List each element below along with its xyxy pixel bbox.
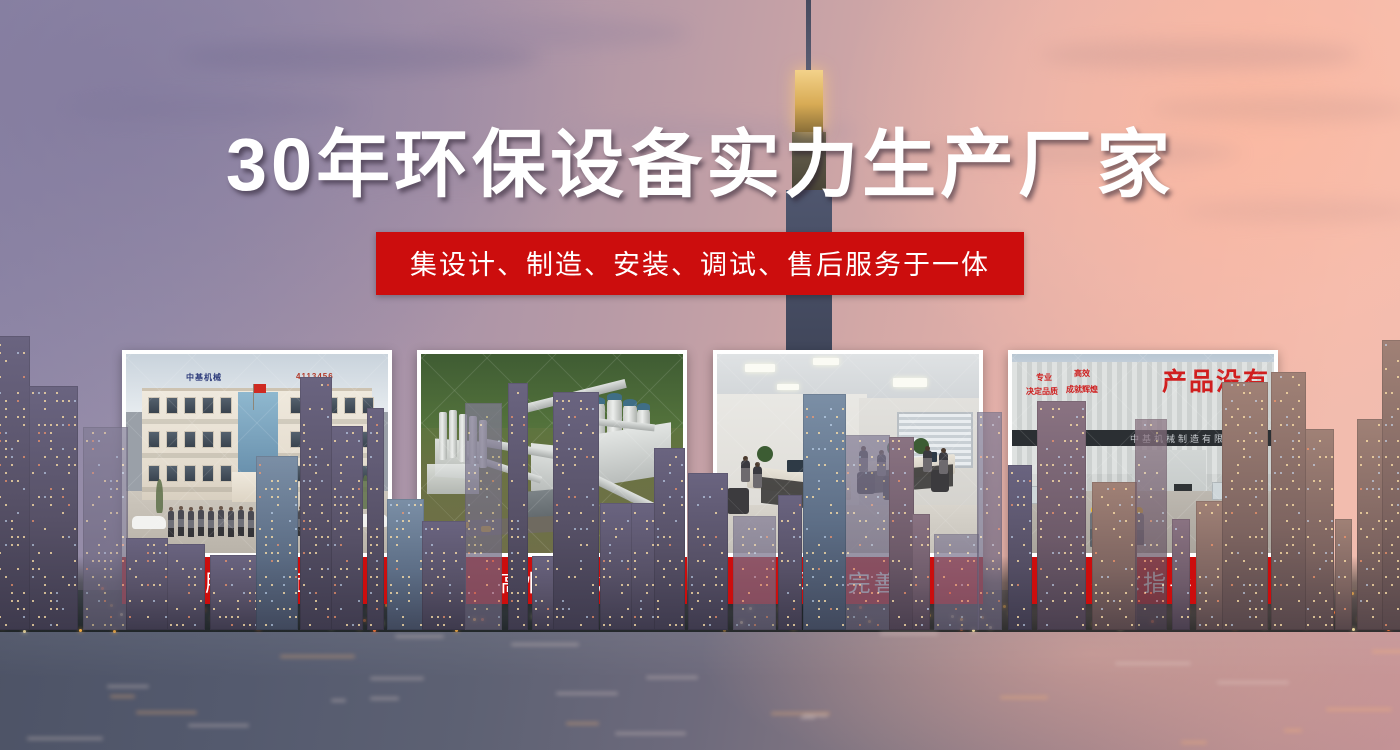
building-window: [86, 520, 88, 522]
building-window: [17, 608, 19, 610]
building-window: [170, 624, 172, 626]
building-window: [1095, 552, 1097, 554]
ceiling-light: [893, 378, 927, 387]
building-window: [437, 576, 439, 578]
building-window: [309, 448, 311, 450]
building-window: [568, 448, 570, 450]
building-window: [468, 592, 470, 594]
building-window: [547, 624, 549, 626]
skyline-building: [1222, 382, 1268, 630]
building-window: [376, 544, 378, 546]
building-window: [1237, 600, 1239, 602]
building-window: [657, 600, 659, 602]
building-window: [1331, 560, 1333, 562]
building-window: [574, 416, 576, 418]
building-window: [104, 568, 106, 570]
skyline-building: [256, 456, 298, 630]
building-window: [1391, 416, 1393, 418]
skyline-building: [600, 503, 632, 630]
photo-wall-slogan: 高效: [1074, 368, 1090, 379]
building-window: [1385, 344, 1387, 346]
building-window: [358, 600, 360, 602]
building-window: [1225, 520, 1227, 522]
building-window: [86, 568, 88, 570]
building-window: [32, 472, 34, 474]
building-window: [556, 520, 558, 522]
building-window: [904, 512, 906, 514]
building-window: [303, 424, 305, 426]
building-window: [681, 584, 683, 586]
building-window: [806, 560, 808, 562]
building-window: [1298, 528, 1300, 530]
building-window: [315, 528, 317, 530]
building-window: [1107, 488, 1109, 490]
building-window: [92, 504, 94, 506]
building-window: [396, 608, 398, 610]
building-window: [303, 512, 305, 514]
building-window: [1360, 464, 1362, 466]
building-window: [56, 600, 58, 602]
building-window: [1286, 424, 1288, 426]
building-window: [1156, 520, 1158, 522]
building-window: [1319, 456, 1321, 458]
building-window: [646, 528, 648, 530]
building-window: [443, 616, 445, 618]
building-window: [1040, 568, 1042, 570]
building-window: [836, 472, 838, 474]
building-window: [883, 440, 885, 442]
building-window: [135, 576, 137, 578]
building-window: [38, 496, 40, 498]
building-window: [949, 624, 951, 626]
building-window: [38, 392, 40, 394]
building-window: [523, 440, 525, 442]
building-window: [474, 488, 476, 490]
building-window: [1017, 496, 1019, 498]
building-window: [1046, 576, 1048, 578]
building-window: [697, 592, 699, 594]
building-window: [17, 512, 19, 514]
building-window: [277, 504, 279, 506]
building-window: [11, 448, 13, 450]
building-window: [681, 624, 683, 626]
building-window: [104, 480, 106, 482]
building-window: [468, 544, 470, 546]
parked-car: [132, 516, 166, 529]
building-window: [1225, 424, 1227, 426]
building-window: [1231, 400, 1233, 402]
building-window: [568, 536, 570, 538]
building-window: [592, 504, 594, 506]
skyline-building: [126, 538, 168, 630]
building-window: [129, 568, 131, 570]
building-window: [742, 536, 744, 538]
building-window: [781, 560, 783, 562]
building-window: [1156, 472, 1158, 474]
building-window: [1280, 488, 1282, 490]
skyline-building: [1271, 372, 1306, 630]
building-window: [927, 544, 929, 546]
building-window: [657, 560, 659, 562]
building-window: [818, 616, 820, 618]
building-window: [309, 528, 311, 530]
office-worker: [939, 452, 948, 474]
building-window: [580, 560, 582, 562]
building-window: [568, 488, 570, 490]
building-window: [742, 600, 744, 602]
building-window: [449, 616, 451, 618]
building-window: [904, 456, 906, 458]
building-window: [574, 528, 576, 530]
building-window: [580, 568, 582, 570]
building-window: [586, 616, 588, 618]
building-window: [309, 568, 311, 570]
building-window: [621, 584, 623, 586]
building-window: [1280, 456, 1282, 458]
building-window: [766, 616, 768, 618]
building-window: [0, 432, 1, 434]
building-window: [592, 488, 594, 490]
building-window: [1225, 624, 1227, 626]
building-window: [474, 536, 476, 538]
building-window: [1070, 552, 1072, 554]
building-window: [921, 600, 923, 602]
building-window: [1082, 568, 1084, 570]
building-window: [949, 552, 951, 554]
building-window: [295, 496, 297, 498]
building-window: [225, 616, 227, 618]
building-window: [847, 552, 849, 554]
staff-person: [248, 511, 254, 537]
building-window: [1280, 560, 1282, 562]
building-window: [1199, 512, 1201, 514]
building-window: [1249, 608, 1251, 610]
building-window: [992, 568, 994, 570]
building-window: [498, 464, 500, 466]
building-window: [709, 600, 711, 602]
water-streak: [803, 714, 828, 717]
building-window: [1199, 592, 1201, 594]
building-window: [376, 536, 378, 538]
building-window: [1243, 584, 1245, 586]
building-window: [1150, 424, 1152, 426]
building-window: [194, 608, 196, 610]
building-window: [1217, 576, 1219, 578]
building-window: [327, 608, 329, 610]
building-window: [1076, 448, 1078, 450]
building-window: [836, 560, 838, 562]
building-window: [1231, 488, 1233, 490]
building-window: [283, 584, 285, 586]
building-window: [1286, 552, 1288, 554]
building-window: [498, 584, 500, 586]
building-window: [50, 488, 52, 490]
building-window: [480, 424, 482, 426]
building-window: [818, 432, 820, 434]
building-window: [703, 536, 705, 538]
building-window: [1261, 624, 1263, 626]
building-window: [153, 600, 155, 602]
building-window: [92, 432, 94, 434]
building-window: [408, 520, 410, 522]
building-window: [1052, 584, 1054, 586]
building-window: [1095, 584, 1097, 586]
building-window: [219, 616, 221, 618]
building-window: [259, 584, 261, 586]
building-window: [1211, 616, 1213, 618]
building-window: [818, 608, 820, 610]
building-window: [556, 464, 558, 466]
building-window: [1070, 456, 1072, 458]
building-window: [715, 568, 717, 570]
building-window: [147, 552, 149, 554]
building-window: [1162, 520, 1164, 522]
building-window: [824, 552, 826, 554]
building-window: [474, 528, 476, 530]
building-window: [556, 440, 558, 442]
building-window: [1058, 480, 1060, 482]
building-window: [492, 560, 494, 562]
building-window: [358, 624, 360, 626]
building-window: [592, 432, 594, 434]
building-window: [1255, 400, 1257, 402]
building-window: [98, 464, 100, 466]
skyline-building: [1357, 419, 1385, 630]
building-window: [1138, 576, 1140, 578]
building-window: [992, 472, 994, 474]
building-window: [480, 552, 482, 554]
building-window: [468, 472, 470, 474]
building-window: [580, 432, 582, 434]
building-window: [1101, 592, 1103, 594]
building-window: [535, 600, 537, 602]
building-window: [603, 512, 605, 514]
building-window: [376, 528, 378, 530]
building-window: [50, 552, 52, 554]
building-window: [38, 552, 40, 554]
person-head: [169, 507, 173, 511]
office-worker: [741, 460, 750, 482]
building-window: [562, 608, 564, 610]
building-window: [961, 616, 963, 618]
building-window: [289, 616, 291, 618]
building-window: [511, 568, 513, 570]
building-window: [184, 465, 196, 482]
photo-wall-slogan: 专业: [1036, 372, 1052, 383]
building-window: [1070, 464, 1072, 466]
building-window: [772, 560, 774, 562]
building-window: [1331, 488, 1333, 490]
building-window: [309, 456, 311, 458]
building-window: [370, 552, 372, 554]
building-window: [772, 544, 774, 546]
building-window: [697, 504, 699, 506]
building-window: [408, 504, 410, 506]
building-window: [580, 448, 582, 450]
building-window: [5, 416, 7, 418]
water-streak: [395, 635, 444, 638]
building-window: [1243, 448, 1245, 450]
building-window: [921, 616, 923, 618]
building-window: [603, 624, 605, 626]
skyline-building: [300, 377, 332, 630]
building-window: [340, 520, 342, 522]
cloud-icon: [60, 96, 360, 122]
building-window: [376, 560, 378, 562]
skyline-building: [465, 403, 502, 630]
shore-light: [23, 630, 26, 633]
building-window: [62, 424, 64, 426]
building-window: [1378, 440, 1380, 442]
building-window: [346, 504, 348, 506]
building-window: [830, 608, 832, 610]
building-window: [122, 536, 124, 538]
building-window: [556, 608, 558, 610]
building-window: [402, 624, 404, 626]
building-window: [1237, 576, 1239, 578]
building-window: [474, 608, 476, 610]
building-window: [998, 496, 1000, 498]
building-window: [346, 576, 348, 578]
building-window: [842, 480, 844, 482]
building-window: [1076, 616, 1078, 618]
building-window: [1225, 544, 1227, 546]
building-window: [967, 560, 969, 562]
building-window: [0, 344, 1, 346]
building-window: [1187, 592, 1189, 594]
building-window: [5, 624, 7, 626]
building-window: [44, 424, 46, 426]
building-window: [1255, 568, 1257, 570]
building-window: [1286, 544, 1288, 546]
building-window: [289, 544, 291, 546]
building-window: [818, 464, 820, 466]
building-window: [580, 512, 582, 514]
skyline-building: [654, 448, 685, 630]
building-window: [283, 592, 285, 594]
building-window: [129, 616, 131, 618]
building-window: [998, 600, 1000, 602]
building-window: [1070, 560, 1072, 562]
building-window: [1360, 488, 1362, 490]
building-window: [669, 624, 671, 626]
building-window: [1107, 576, 1109, 578]
building-window: [1372, 480, 1374, 482]
building-window: [818, 480, 820, 482]
building-window: [44, 528, 46, 530]
cloud-icon: [430, 18, 690, 48]
building-window: [793, 536, 795, 538]
building-window: [74, 424, 76, 426]
building-window: [11, 528, 13, 530]
photo-company-sign: 中基机械: [186, 372, 222, 383]
building-window: [265, 624, 267, 626]
water-streak: [188, 724, 249, 727]
landmark-tower-spire: [806, 0, 811, 70]
building-window: [480, 544, 482, 546]
building-window: [1292, 408, 1294, 410]
building-window: [669, 472, 671, 474]
building-window: [344, 397, 356, 414]
building-window: [523, 416, 525, 418]
building-window: [892, 560, 894, 562]
building-window: [1261, 408, 1263, 410]
building-window: [50, 504, 52, 506]
building-window: [1052, 600, 1054, 602]
building-window: [824, 416, 826, 418]
building-window: [104, 592, 106, 594]
building-window: [1119, 608, 1121, 610]
building-window: [1397, 560, 1399, 562]
person-head: [209, 507, 213, 511]
building-window: [23, 416, 25, 418]
building-window: [523, 624, 525, 626]
building-window: [1017, 624, 1019, 626]
building-window: [1181, 552, 1183, 554]
building-window: [1138, 624, 1140, 626]
building-window: [5, 520, 7, 522]
building-window: [1331, 616, 1333, 618]
building-window: [1070, 472, 1072, 474]
building-window: [1397, 360, 1399, 362]
building-window: [1119, 520, 1121, 522]
building-window: [898, 512, 900, 514]
building-window: [754, 552, 756, 554]
building-window: [1378, 560, 1380, 562]
building-window: [461, 592, 463, 594]
building-window: [1076, 512, 1078, 514]
building-window: [340, 464, 342, 466]
building-window: [315, 544, 317, 546]
building-window: [748, 528, 750, 530]
building-window: [74, 528, 76, 530]
building-window: [541, 600, 543, 602]
building-window: [1313, 448, 1315, 450]
building-window: [568, 576, 570, 578]
building-window: [836, 584, 838, 586]
building-window: [1131, 544, 1133, 546]
building-window: [892, 520, 894, 522]
building-window: [5, 432, 7, 434]
building-window: [480, 480, 482, 482]
building-window: [1274, 488, 1276, 490]
building-window: [50, 624, 52, 626]
building-window: [327, 384, 329, 386]
building-window: [883, 480, 885, 482]
building-window: [358, 528, 360, 530]
building-window: [474, 472, 476, 474]
building-window: [1231, 624, 1233, 626]
person-head: [743, 456, 748, 461]
building-window: [806, 496, 808, 498]
building-window: [1313, 544, 1315, 546]
ceiling-light: [745, 364, 775, 372]
building-window: [346, 432, 348, 434]
building-window: [1338, 544, 1340, 546]
building-window: [110, 552, 112, 554]
building-window: [663, 568, 665, 570]
building-window: [92, 448, 94, 450]
skyline-building: [844, 435, 890, 630]
building-window: [0, 376, 1, 378]
building-window: [921, 544, 923, 546]
building-window: [760, 536, 762, 538]
building-window: [1058, 536, 1060, 538]
building-window: [352, 496, 354, 498]
building-window: [370, 456, 372, 458]
building-window: [859, 576, 861, 578]
building-window: [1040, 536, 1042, 538]
